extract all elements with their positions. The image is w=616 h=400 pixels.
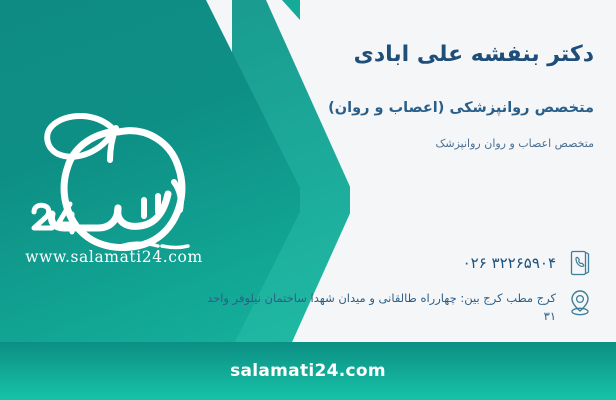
map-pin-icon — [566, 288, 594, 318]
footer-bar: salamati24.com — [0, 342, 616, 400]
doctor-specialty-subtitle: متخصص اعصاب و روان روانپزشک — [194, 136, 594, 153]
doctor-specialty: متخصص روانپزشکی (اعصاب و روان) — [194, 98, 594, 120]
clinic-address: کرج مطب کرج بین: چهارراه طالقانی و میدان… — [194, 288, 556, 326]
phone-number: ۳۲۲۶۵۹۰۴ ۰۲۶ — [194, 248, 556, 275]
phone-book-icon — [566, 248, 594, 278]
profile-content: دکتر بنفشه علی ابادی متخصص روانپزشکی (اع… — [194, 0, 594, 340]
footer-website[interactable]: salamati24.com — [230, 361, 386, 381]
doctor-name: دکتر بنفشه علی ابادی — [194, 40, 594, 71]
phone-row[interactable]: ۳۲۲۶۵۹۰۴ ۰۲۶ — [194, 248, 594, 278]
doctor-profile-card: سلامتی 24 به‌راحتی یک لبخند www.salamati… — [0, 0, 616, 400]
logo-website-url: www.salamati24.com — [14, 248, 214, 266]
address-row[interactable]: کرج مطب کرج بین: چهارراه طالقانی و میدان… — [194, 288, 594, 326]
